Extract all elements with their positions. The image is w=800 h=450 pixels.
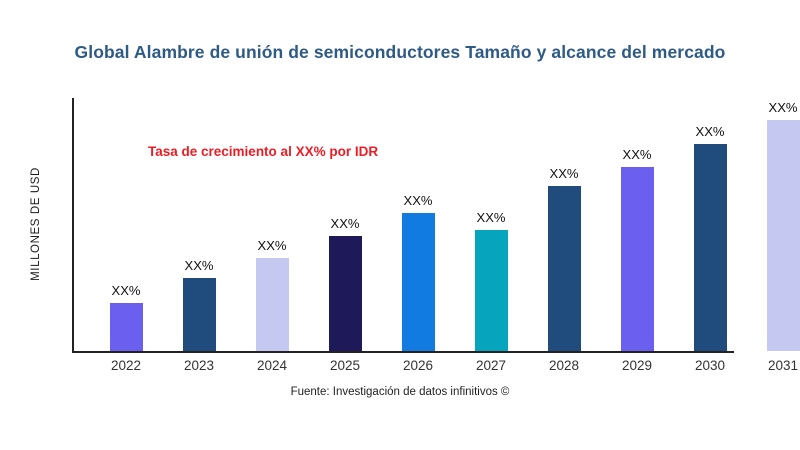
bar-group-2022[interactable]: XX% (110, 243, 143, 351)
x-tick-label-2028: 2028 (549, 358, 579, 373)
bar-value-label-2030: XX% (696, 124, 725, 139)
bar-group-2027[interactable]: XX% (475, 170, 508, 351)
bar-2028[interactable] (548, 186, 581, 351)
x-tick-label-2025: 2025 (330, 358, 360, 373)
x-tick-label-2026: 2026 (403, 358, 433, 373)
bar-2023[interactable] (183, 278, 216, 351)
bar-2024[interactable] (256, 258, 289, 351)
bar-2030[interactable] (694, 144, 727, 351)
bar-value-label-2027: XX% (477, 210, 506, 225)
bar-group-2025[interactable]: XX% (329, 176, 362, 351)
x-tick-label-2024: 2024 (257, 358, 287, 373)
x-tick-label-2029: 2029 (622, 358, 652, 373)
bar-value-label-2023: XX% (185, 258, 214, 273)
bar-group-2030[interactable]: XX% (694, 84, 727, 351)
bar-group-2029[interactable]: XX% (621, 107, 654, 351)
x-tick-label-2023: 2023 (184, 358, 214, 373)
source-caption: Fuente: Investigación de datos infinitiv… (0, 386, 800, 398)
x-tick-label-2022: 2022 (111, 358, 141, 373)
x-tick-label-2027: 2027 (476, 358, 506, 373)
x-tick-label-2030: 2030 (695, 358, 725, 373)
bar-value-label-2028: XX% (550, 166, 579, 181)
bar-value-label-2025: XX% (331, 216, 360, 231)
bar-2029[interactable] (621, 167, 654, 351)
bar-value-label-2026: XX% (404, 193, 433, 208)
bar-2025[interactable] (329, 236, 362, 351)
bar-2031[interactable] (767, 120, 800, 351)
bar-2027[interactable] (475, 230, 508, 351)
bar-group-2026[interactable]: XX% (402, 153, 435, 351)
bar-value-label-2029: XX% (623, 147, 652, 162)
bar-2022[interactable] (110, 303, 143, 351)
x-tick-label-2031: 2031 (768, 358, 798, 373)
plot-area: XX%2022XX%2023XX%2024XX%2025XX%2026XX%20… (0, 0, 800, 450)
bar-group-2028[interactable]: XX% (548, 126, 581, 351)
bar-group-2031[interactable]: XX% (767, 60, 800, 351)
bar-group-2024[interactable]: XX% (256, 198, 289, 351)
bar-value-label-2024: XX% (258, 238, 287, 253)
bar-chart-figure: Global Alambre de unión de semiconductor… (0, 0, 800, 450)
bar-value-label-2022: XX% (112, 283, 141, 298)
bar-group-2023[interactable]: XX% (183, 218, 216, 351)
bar-value-label-2031: XX% (769, 100, 798, 115)
bar-2026[interactable] (402, 213, 435, 351)
